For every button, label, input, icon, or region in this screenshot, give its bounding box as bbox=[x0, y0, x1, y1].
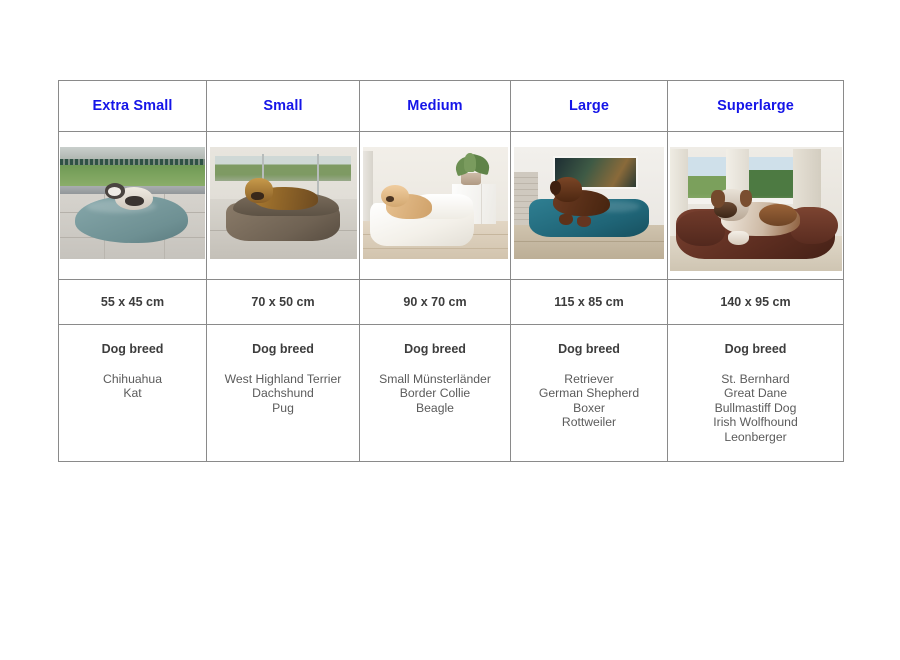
photo-wrap-large bbox=[511, 132, 667, 264]
photo-cell-medium bbox=[360, 132, 511, 280]
breed-title-large: Dog breed bbox=[515, 343, 663, 356]
photo-layer-plant-pot bbox=[461, 173, 481, 185]
table-dimensions-row: 55 x 45 cm 70 x 50 cm 90 x 70 cm 115 x 8… bbox=[59, 280, 844, 325]
dimensions-large: 115 x 85 cm bbox=[511, 296, 667, 309]
photo-layer-plant-leaf bbox=[464, 153, 476, 172]
header-cell-extra-small: Extra Small bbox=[59, 81, 207, 132]
breed-cell-large: Dog breed Retriever German Shepherd Boxe… bbox=[511, 325, 668, 462]
photo-layer-plank-line bbox=[363, 248, 508, 249]
breed-list-small: West Highland Terrier Dachshund Pug bbox=[211, 372, 355, 416]
breed-item: Leonberger bbox=[672, 430, 839, 445]
dimensions-superlarge: 140 x 95 cm bbox=[668, 296, 843, 309]
breed-block-medium: Dog breed Small Münsterländer Border Col… bbox=[360, 325, 510, 415]
breed-item: Boxer bbox=[515, 401, 663, 416]
photo-layer-dog-paw bbox=[559, 214, 573, 225]
photo-wrap-small bbox=[207, 132, 359, 264]
breed-item: Dachshund bbox=[211, 386, 355, 401]
header-cell-large: Large bbox=[511, 81, 668, 132]
breed-item: Retriever bbox=[515, 372, 663, 387]
table-photo-row bbox=[59, 132, 844, 280]
breed-item: West Highland Terrier bbox=[211, 372, 355, 387]
dimensions-cell-medium: 90 x 70 cm bbox=[360, 280, 511, 325]
photo-cell-large bbox=[511, 132, 668, 280]
photo-layer-dog-ear bbox=[550, 181, 561, 196]
dimensions-medium: 90 x 70 cm bbox=[360, 296, 510, 309]
photo-layer-dog-paw bbox=[577, 216, 591, 226]
breed-item: Kat bbox=[63, 386, 202, 401]
product-photo-small bbox=[210, 147, 357, 259]
breed-title-medium: Dog breed bbox=[364, 343, 506, 356]
breed-item: Pug bbox=[211, 401, 355, 416]
breed-cell-extra-small: Dog breed Chihuahua Kat bbox=[59, 325, 207, 462]
breed-list-extra-small: Chihuahua Kat bbox=[63, 372, 202, 401]
product-photo-large bbox=[514, 147, 664, 259]
breed-title-superlarge: Dog breed bbox=[672, 343, 839, 356]
breed-block-superlarge: Dog breed St. Bernhard Great Dane Bullma… bbox=[668, 325, 843, 444]
table-breed-row: Dog breed Chihuahua Kat Dog breed West H… bbox=[59, 325, 844, 462]
photo-layer-dog-marking bbox=[759, 204, 797, 226]
breed-item: German Shepherd bbox=[515, 386, 663, 401]
size-name-medium: Medium bbox=[360, 99, 510, 114]
photo-layer-dog-muzzle bbox=[251, 192, 264, 200]
breed-list-large: Retriever German Shepherd Boxer Rottweil… bbox=[515, 372, 663, 430]
breed-item: Border Collie bbox=[364, 386, 506, 401]
photo-wrap-superlarge bbox=[668, 132, 843, 264]
breed-block-large: Dog breed Retriever German Shepherd Boxe… bbox=[511, 325, 667, 430]
breed-list-superlarge: St. Bernhard Great Dane Bullmastiff Dog … bbox=[672, 372, 839, 445]
size-name-small: Small bbox=[207, 99, 359, 114]
breed-item: Chihuahua bbox=[63, 372, 202, 387]
breed-block-extra-small: Dog breed Chihuahua Kat bbox=[59, 325, 206, 401]
dimensions-cell-large: 115 x 85 cm bbox=[511, 280, 668, 325]
breed-title-extra-small: Dog breed bbox=[63, 343, 202, 356]
table-header-row: Extra Small Small Medium Large Superlarg… bbox=[59, 81, 844, 132]
photo-layer-cabinet-edge bbox=[481, 184, 482, 224]
photo-cell-superlarge bbox=[668, 132, 844, 280]
photo-layer-grass bbox=[60, 165, 205, 187]
photo-layer-dog-paw bbox=[728, 231, 749, 245]
photo-layer-dog-ear bbox=[740, 190, 752, 206]
breed-title-small: Dog breed bbox=[211, 343, 355, 356]
breed-item: Irish Wolfhound bbox=[672, 415, 839, 430]
breed-item: Bullmastiff Dog bbox=[672, 401, 839, 416]
photo-wrap-extra-small bbox=[59, 132, 206, 264]
header-cell-superlarge: Superlarge bbox=[668, 81, 844, 132]
product-photo-superlarge bbox=[670, 147, 842, 271]
product-photo-extra-small bbox=[60, 147, 205, 259]
dimensions-small: 70 x 50 cm bbox=[207, 296, 359, 309]
breed-cell-medium: Dog breed Small Münsterländer Border Col… bbox=[360, 325, 511, 462]
breed-item: Great Dane bbox=[672, 386, 839, 401]
photo-layer-window-view bbox=[215, 156, 350, 181]
photo-cell-extra-small bbox=[59, 132, 207, 280]
header-cell-small: Small bbox=[207, 81, 360, 132]
breed-cell-superlarge: Dog breed St. Bernhard Great Dane Bullma… bbox=[668, 325, 844, 462]
dimensions-extra-small: 55 x 45 cm bbox=[59, 296, 206, 309]
size-name-large: Large bbox=[511, 99, 667, 114]
dimensions-cell-extra-small: 55 x 45 cm bbox=[59, 280, 207, 325]
breed-item: Small Münsterländer bbox=[364, 372, 506, 387]
photo-cell-small bbox=[207, 132, 360, 280]
breed-item: Rottweiler bbox=[515, 415, 663, 430]
breed-list-medium: Small Münsterländer Border Collie Beagle bbox=[364, 372, 506, 416]
photo-layer-plank-line bbox=[514, 241, 664, 242]
breed-item: St. Bernhard bbox=[672, 372, 839, 387]
size-name-extra-small: Extra Small bbox=[59, 99, 206, 114]
breed-cell-small: Dog breed West Highland Terrier Dachshun… bbox=[207, 325, 360, 462]
size-guide-page: Extra Small Small Medium Large Superlarg… bbox=[0, 0, 900, 660]
breed-block-small: Dog breed West Highland Terrier Dachshun… bbox=[207, 325, 359, 415]
header-cell-medium: Medium bbox=[360, 81, 511, 132]
photo-wrap-medium bbox=[360, 132, 510, 264]
dimensions-cell-superlarge: 140 x 95 cm bbox=[668, 280, 844, 325]
dimensions-cell-small: 70 x 50 cm bbox=[207, 280, 360, 325]
photo-layer-dog-ear bbox=[711, 190, 725, 207]
dog-bed-size-table: Extra Small Small Medium Large Superlarg… bbox=[58, 80, 844, 462]
product-photo-medium bbox=[363, 147, 508, 259]
size-name-superlarge: Superlarge bbox=[668, 99, 843, 114]
breed-item: Beagle bbox=[364, 401, 506, 416]
photo-layer-dog-nose bbox=[386, 196, 395, 202]
